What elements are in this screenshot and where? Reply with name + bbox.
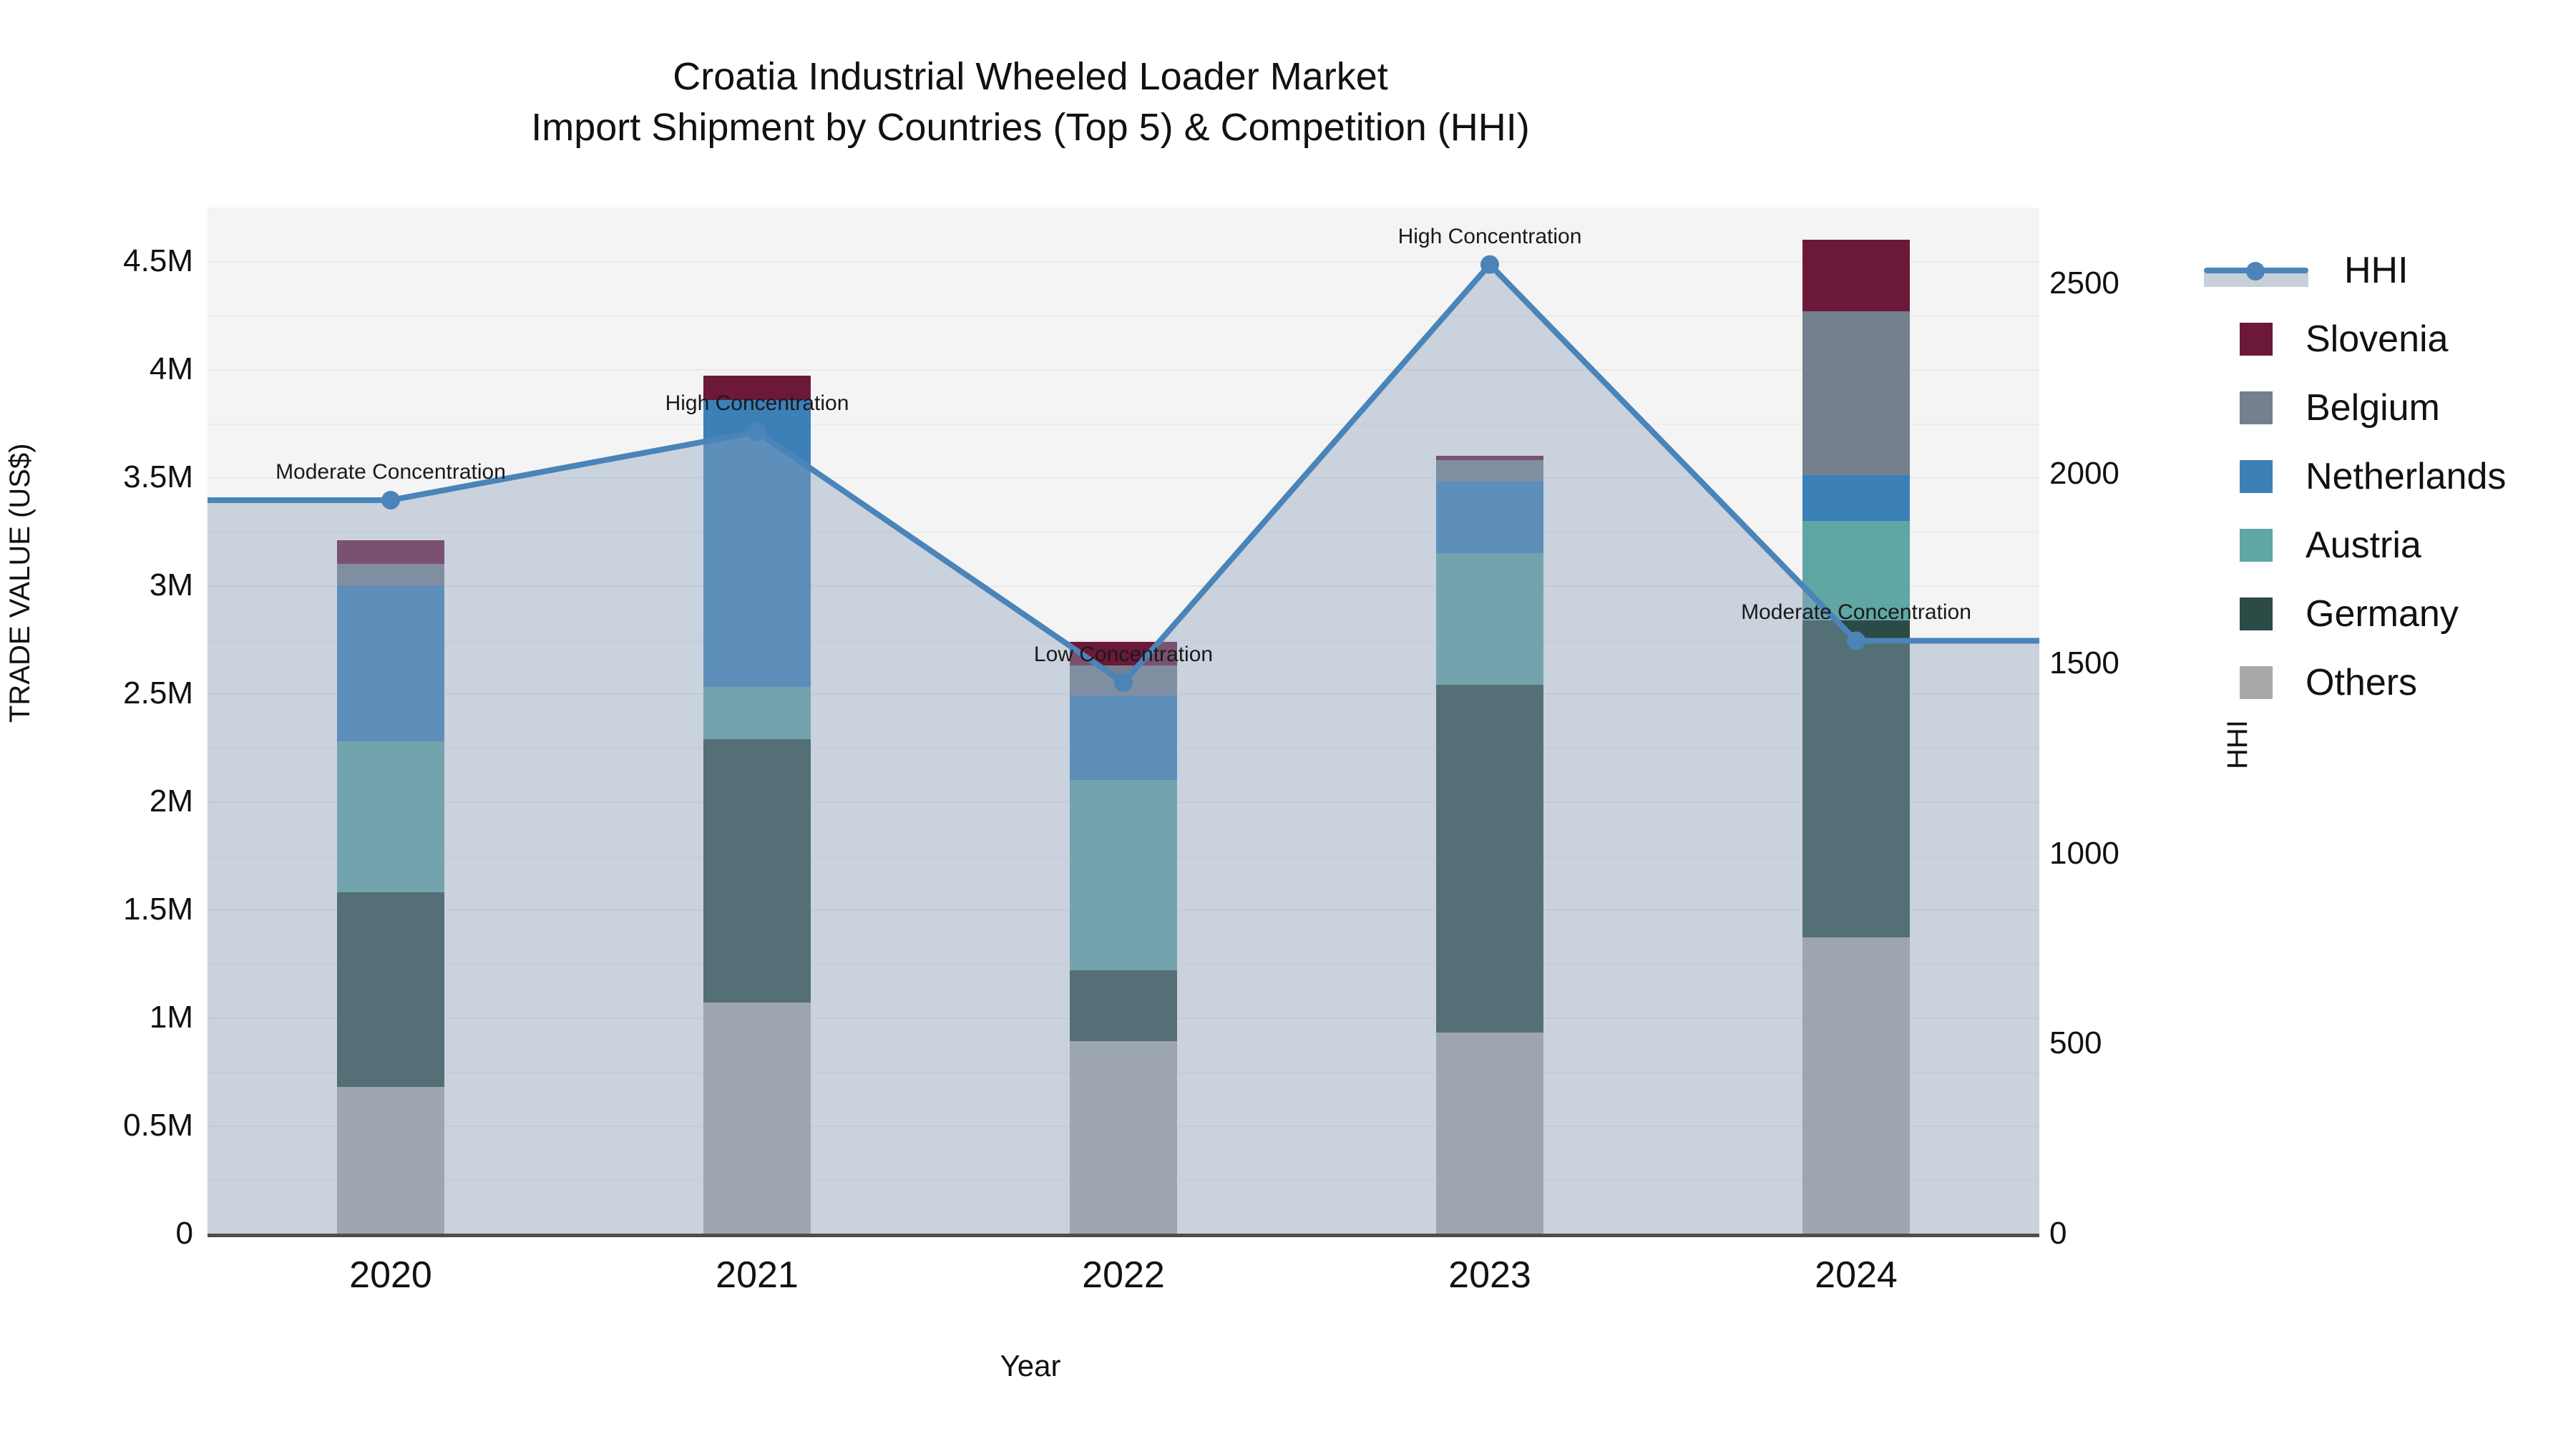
legend-item-hhi[interactable]: HHI	[2204, 236, 2576, 305]
y2-axis-tick-label: 500	[2049, 1025, 2102, 1061]
hhi-area-fill	[208, 265, 2039, 1234]
legend-item-belgium[interactable]: Belgium	[2204, 374, 2576, 442]
y2-axis-tick-labels: 05001000150020002500	[2048, 208, 2205, 1235]
y2-axis-tick-label: 1500	[2049, 645, 2119, 681]
x-axis-tick-label: 2021	[716, 1254, 799, 1297]
annotation-label: Moderate Concentration	[275, 460, 506, 484]
y-axis-tick-label: 1M	[150, 1000, 193, 1035]
chart-legend[interactable]: HHISloveniaBelgiumNetherlandsAustriaGerm…	[2204, 236, 2576, 717]
legend-item-slovenia[interactable]: Slovenia	[2204, 305, 2576, 374]
legend-item-netherlands[interactable]: Netherlands	[2204, 442, 2576, 511]
y2-axis-title: HHI	[2222, 720, 2254, 769]
legend-swatch-icon	[2240, 529, 2273, 562]
x-axis-tick-label: 2023	[1448, 1254, 1531, 1297]
legend-item-label: Germany	[2306, 592, 2459, 635]
legend-item-label: Slovenia	[2306, 318, 2448, 361]
hhi-data-point[interactable]	[381, 491, 400, 509]
hhi-data-point[interactable]	[1480, 255, 1499, 274]
hhi-data-point[interactable]	[1847, 631, 1865, 650]
y2-axis-tick-label: 1000	[2049, 836, 2119, 872]
plot-area: Moderate ConcentrationHigh Concentration…	[208, 208, 2039, 1235]
annotation-label: Moderate Concentration	[1741, 600, 1971, 625]
y-axis-tick-label: 0	[176, 1216, 193, 1252]
legend-item-austria[interactable]: Austria	[2204, 511, 2576, 580]
legend-swatch-icon	[2240, 323, 2273, 356]
legend-swatch-icon	[2240, 666, 2273, 699]
legend-item-label: HHI	[2344, 249, 2409, 292]
legend-item-label: Austria	[2306, 524, 2421, 567]
legend-item-label: Others	[2306, 661, 2417, 704]
legend-line-marker-icon	[2204, 254, 2308, 287]
legend-swatch-icon	[2240, 391, 2273, 424]
legend-item-label: Netherlands	[2306, 455, 2506, 498]
chart-title-line-1: Croatia Industrial Wheeled Loader Market	[0, 52, 2061, 102]
y-axis-tick-label: 4M	[150, 351, 193, 387]
x-axis-tick-label: 2020	[349, 1254, 432, 1297]
annotation-label: High Concentration	[1398, 225, 1582, 249]
x-axis-title: Year	[0, 1349, 2061, 1383]
y2-axis-tick-label: 2000	[2049, 456, 2119, 492]
hhi-data-point[interactable]	[1114, 673, 1133, 692]
hhi-data-point[interactable]	[748, 422, 766, 441]
chart-title: Croatia Industrial Wheeled Loader Market…	[0, 52, 2061, 154]
x-axis-tick-label: 2024	[1815, 1254, 1898, 1297]
y-axis-tick-label: 3M	[150, 567, 193, 603]
y-axis-tick-label: 3.5M	[123, 459, 193, 495]
y-axis-tick-labels: 00.5M1M1.5M2M2.5M3M3.5M4M4.5M	[0, 208, 195, 1235]
annotation-label: High Concentration	[665, 391, 849, 416]
y2-axis-tick-label: 0	[2049, 1216, 2067, 1252]
chart-page: Croatia Industrial Wheeled Loader Market…	[0, 0, 2576, 1449]
x-axis-tick-label: 2022	[1082, 1254, 1165, 1297]
y2-axis-tick-label: 2500	[2049, 265, 2119, 301]
legend-swatch-icon	[2240, 597, 2273, 630]
y-axis-tick-label: 2.5M	[123, 675, 193, 711]
hhi-line-series	[208, 208, 2039, 1235]
y-axis-tick-label: 0.5M	[123, 1108, 193, 1143]
legend-item-others[interactable]: Others	[2204, 648, 2576, 717]
legend-swatch-icon	[2240, 460, 2273, 493]
y-axis-tick-label: 4.5M	[123, 243, 193, 279]
legend-item-label: Belgium	[2306, 386, 2440, 429]
x-axis-baseline	[208, 1234, 2039, 1237]
y-axis-tick-label: 1.5M	[123, 892, 193, 927]
legend-item-germany[interactable]: Germany	[2204, 580, 2576, 648]
y-axis-tick-label: 2M	[150, 784, 193, 819]
chart-title-line-2: Import Shipment by Countries (Top 5) & C…	[0, 102, 2061, 153]
annotation-label: Low Concentration	[1034, 643, 1213, 667]
